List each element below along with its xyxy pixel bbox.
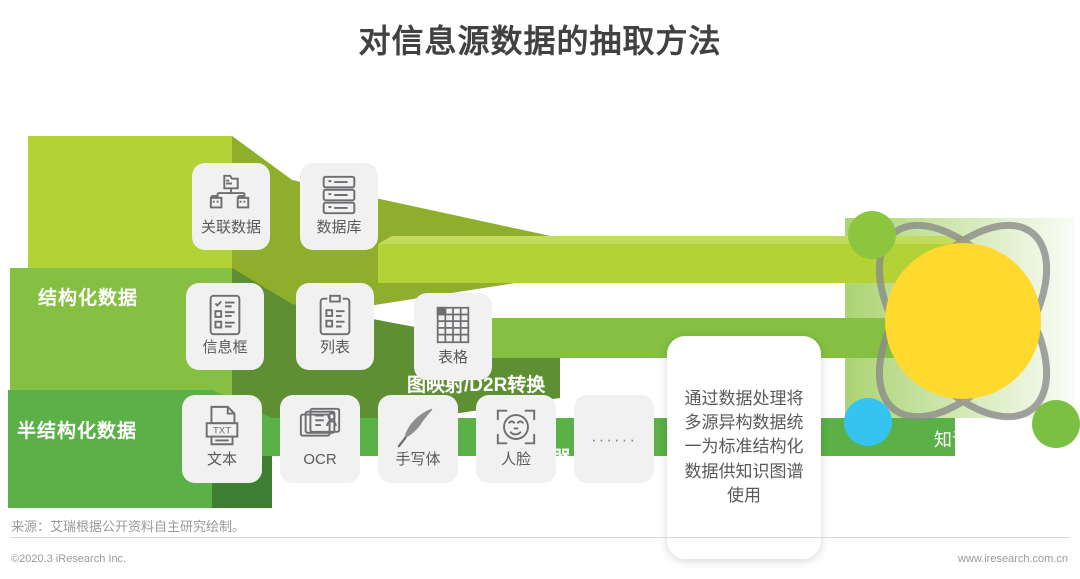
footer-divider: [10, 537, 1070, 538]
tile-linked-data[interactable]: 关联数据: [192, 163, 270, 250]
tile-ellipsis[interactable]: ······: [574, 395, 654, 483]
tile-caption: 文本: [207, 452, 237, 467]
tile-face[interactable]: 人脸: [476, 395, 556, 483]
page-title: 对信息源数据的抽取方法: [0, 16, 1080, 62]
tile-caption: 信息框: [202, 340, 247, 355]
band-label-semi-structured: 半结构化数据: [17, 416, 137, 443]
txt-file-icon: TXT: [199, 404, 245, 450]
linked-data-icon: [208, 172, 254, 218]
tile-caption: 人脸: [501, 452, 531, 467]
slide-canvas: 对信息源数据的抽取方法: [0, 0, 1080, 579]
kg-node-green-top: [848, 211, 896, 259]
tile-ocr[interactable]: OCR: [280, 395, 360, 483]
tile-handwriting[interactable]: 手写体: [378, 395, 458, 483]
copyright-text: ©2020.3 iResearch Inc.: [11, 553, 126, 565]
kg-node-blue: [844, 398, 892, 446]
face-scan-icon: [493, 404, 539, 450]
tile-caption: 手写体: [395, 452, 440, 467]
infobox-icon: [202, 292, 248, 338]
tile-infobox[interactable]: 信息框: [186, 283, 264, 370]
table-grid-icon: [430, 302, 476, 348]
tile-caption: 列表: [320, 340, 350, 355]
ellipsis-icon: ······: [591, 431, 637, 448]
ocr-cards-icon: [297, 404, 343, 450]
row1-connector: [232, 136, 560, 318]
tile-text[interactable]: TXT 文本: [182, 395, 262, 483]
database-icon: [316, 172, 362, 218]
kg-core-circle: [885, 243, 1041, 399]
svg-text:TXT: TXT: [213, 426, 231, 437]
source-note: 来源：艾瑞根据公开资料自主研究绘制。: [11, 516, 245, 535]
knowledge-graph-label: 知识图谱: [910, 426, 1030, 452]
tile-caption: 关联数据: [201, 220, 261, 235]
tile-list[interactable]: 列表: [296, 283, 374, 370]
feather-pen-icon: [395, 404, 441, 450]
tile-caption: 数据库: [316, 220, 361, 235]
kg-node-green-right: [1032, 400, 1080, 448]
tile-caption: 表格: [438, 350, 468, 365]
description-text: 通过数据处理将多源异构数据统一为标准结构化数据供知识图谱使用: [682, 387, 806, 508]
tile-database[interactable]: 数据库: [300, 163, 378, 250]
diagram-area: 结构化数据 半结构化数据 非结构化数据 图映射/D2R转换 包装器 关联数据: [0, 118, 1080, 508]
tile-table[interactable]: 表格: [414, 293, 492, 380]
website-link[interactable]: www.iresearch.com.cn: [958, 553, 1068, 565]
band-label-structured: 结构化数据: [38, 283, 138, 310]
list-clipboard-icon: [312, 292, 358, 338]
tile-caption: OCR: [303, 452, 336, 467]
description-card: 通过数据处理将多源异构数据统一为标准结构化数据供知识图谱使用: [667, 336, 821, 559]
